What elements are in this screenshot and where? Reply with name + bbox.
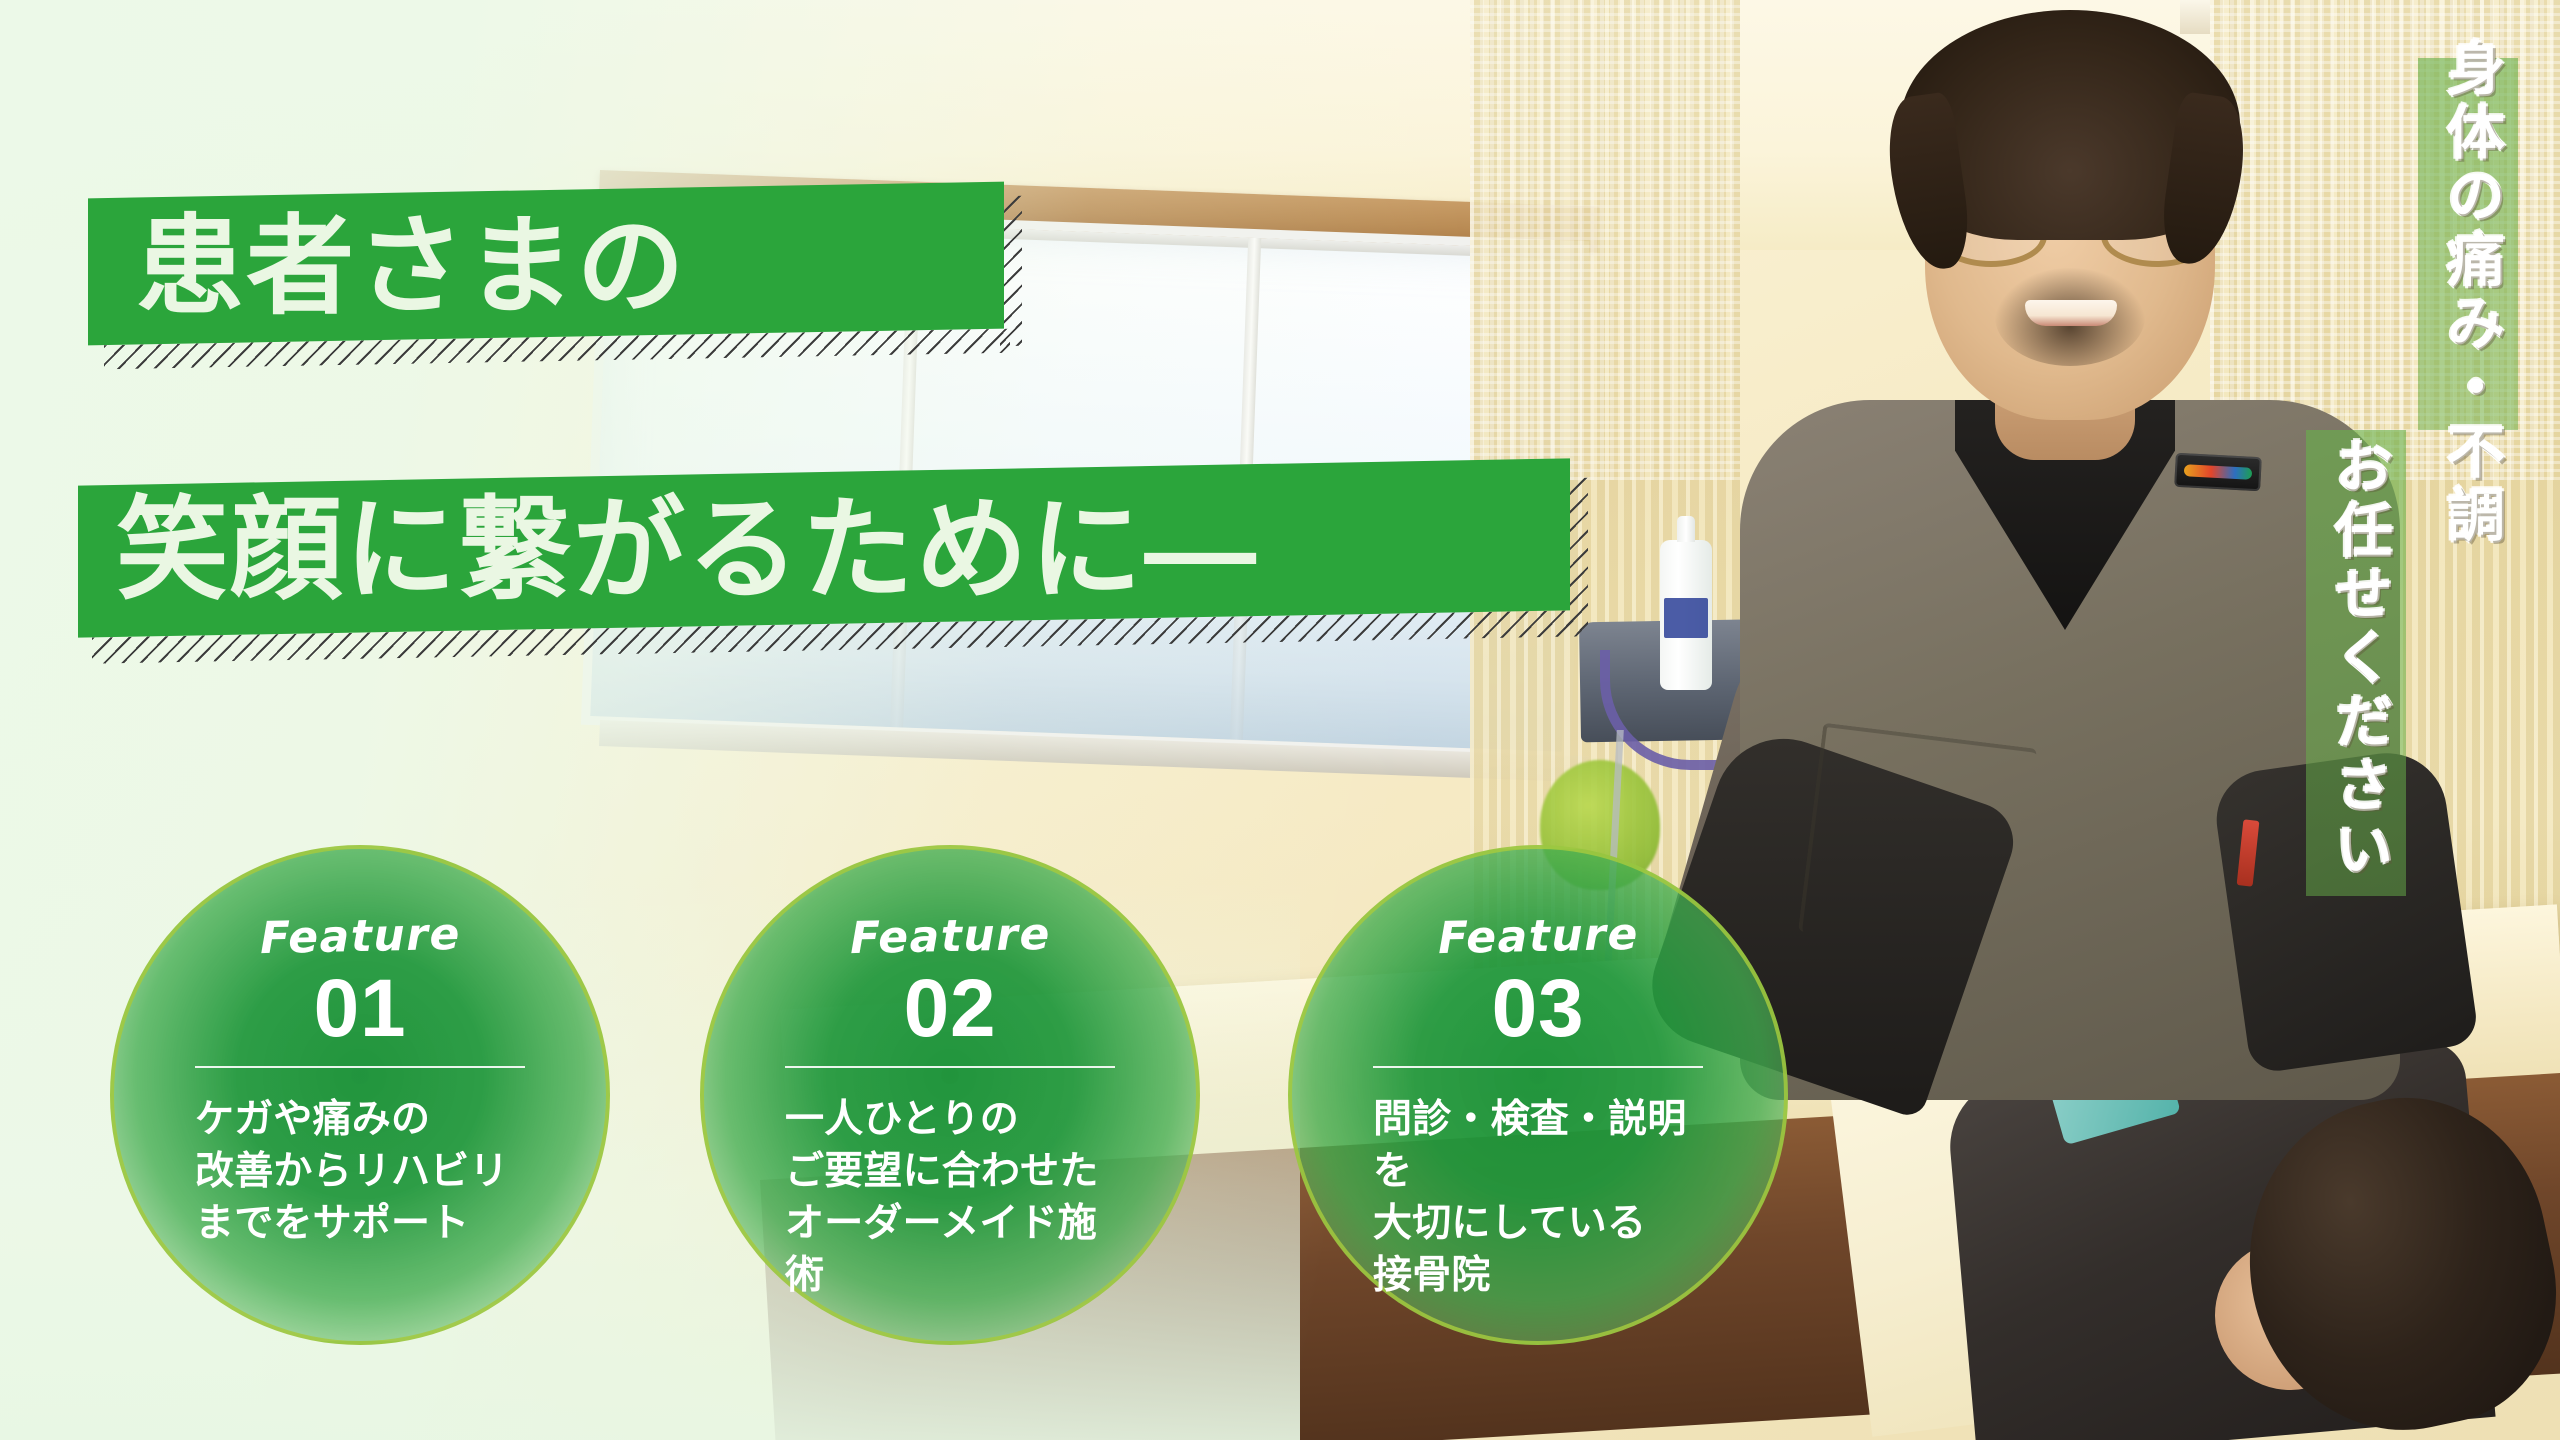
feature-divider bbox=[195, 1066, 525, 1068]
headline-line-2-text: 笑顔に繋がるために— bbox=[116, 495, 1258, 607]
feature-body-line: 接骨院 bbox=[1373, 1250, 1703, 1302]
feature-body-line: 問診・検査・説明を bbox=[1373, 1094, 1703, 1198]
feature-number: 02 bbox=[904, 966, 997, 1052]
feature-body-text: 一人ひとりの ご要望に合わせた オーダーメイド施術 bbox=[785, 1094, 1115, 1301]
feature-body-text: ケガや痛みの 改善からリハビリ までをサポート bbox=[195, 1094, 525, 1250]
headline-banner-line-2: 笑顔に繋がるために— bbox=[78, 458, 1570, 637]
feature-divider bbox=[785, 1066, 1115, 1068]
feature-body-line: までをサポート bbox=[195, 1198, 525, 1250]
vertical-copy-2: お任せください bbox=[2316, 436, 2400, 883]
vertical-copy-1: 身体の痛み・不調 bbox=[2428, 38, 2512, 548]
feature-body-line: 大切にしている bbox=[1373, 1198, 1703, 1250]
feature-body-line: ケガや痛みの bbox=[195, 1094, 525, 1146]
feature-circle-01[interactable]: Feature 01 ケガや痛みの 改善からリハビリ までをサポート bbox=[110, 845, 610, 1345]
feature-body-line: 改善からリハビリ bbox=[195, 1146, 525, 1198]
headline-line-1-text: 患者さまの bbox=[136, 212, 687, 320]
hero-banner: 患者さまの 笑顔に繋がるために— 身体の痛み・不調 お任せください Featur… bbox=[0, 0, 2560, 1440]
feature-circle-03[interactable]: Feature 03 問診・検査・説明を 大切にしている 接骨院 bbox=[1288, 845, 1788, 1345]
headline-banner-line-1: 患者さまの bbox=[88, 182, 1004, 346]
feature-kicker: Feature bbox=[259, 909, 461, 964]
feature-circle-02[interactable]: Feature 02 一人ひとりの ご要望に合わせた オーダーメイド施術 bbox=[700, 845, 1200, 1345]
feature-body-line: ご要望に合わせた bbox=[785, 1146, 1115, 1198]
feature-kicker: Feature bbox=[849, 909, 1051, 964]
feature-divider bbox=[1373, 1066, 1703, 1068]
feature-body-line: 一人ひとりの bbox=[785, 1094, 1115, 1146]
feature-number: 01 bbox=[314, 966, 407, 1052]
feature-body-line: オーダーメイド施術 bbox=[785, 1198, 1115, 1302]
feature-number: 03 bbox=[1492, 966, 1585, 1052]
feature-kicker: Feature bbox=[1437, 909, 1639, 964]
feature-body-text: 問診・検査・説明を 大切にしている 接骨院 bbox=[1373, 1094, 1703, 1301]
